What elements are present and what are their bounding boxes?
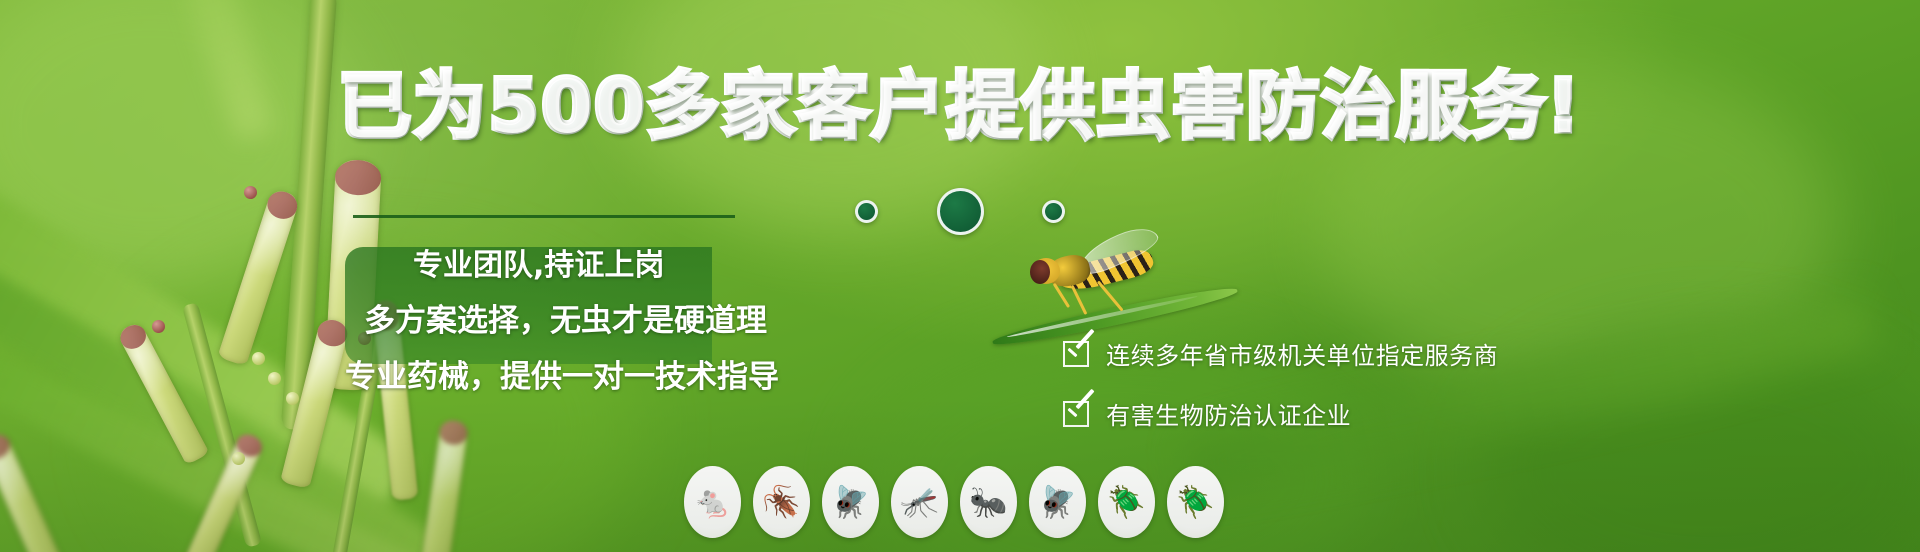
banner-headline-text: 已为500多家客户提供虫害防治服务! (338, 70, 1582, 143)
pest-control-banner: 已为500多家客户提供虫害防治服务! 专业团队,持证上岗 多方案选择，无虫才是硬… (0, 0, 1920, 552)
dot-small-right (1042, 200, 1065, 223)
flea-icon: 🪲 (1098, 487, 1155, 518)
pest-icon-rat[interactable]: 🐁 (684, 466, 741, 538)
pest-icon-bedbug[interactable]: 🪲 (1167, 466, 1224, 538)
pest-icon-mosquito[interactable]: 🦟 (891, 466, 948, 538)
credential-bullet-2-label: 有害生物防治认证企业 (1106, 396, 1351, 431)
hoverfly-icon (1010, 230, 1240, 350)
flower-spike (0, 431, 65, 552)
pest-icon-ant[interactable]: 🐜 (960, 466, 1017, 538)
pest-icon-fly[interactable]: 🪰 (822, 466, 879, 538)
credential-bullet-2: 有害生物防治认证企业 (1063, 396, 1351, 431)
flower-bud (232, 452, 245, 465)
dot-large-center (937, 188, 984, 235)
fly-icon: 🪰 (1029, 487, 1086, 518)
flower-bud (286, 392, 299, 405)
checkmark-box-icon (1063, 401, 1089, 427)
pest-icon-cockroach[interactable]: 🪳 (753, 466, 810, 538)
hoverfly-eye (1030, 260, 1050, 284)
hoverfly-leg (1071, 285, 1088, 315)
pest-icon-flea[interactable]: 🪲 (1098, 466, 1155, 538)
mosquito-icon: 🦟 (891, 487, 948, 518)
checkmark-box-icon (1063, 341, 1089, 367)
rat-icon: 🐁 (684, 487, 741, 518)
pest-icon-row: 🐁 🪳 🪰 🦟 🐜 🪰 🪲 🪲 (684, 466, 1224, 538)
pest-icon-fly-2[interactable]: 🪰 (1029, 466, 1086, 538)
ant-icon: 🐜 (960, 487, 1017, 518)
flower-spike (419, 419, 469, 552)
credential-bullet-1-label: 连续多年省市级机关单位指定服务商 (1106, 336, 1498, 371)
hoverfly-leg (1097, 281, 1124, 312)
fly-icon: 🪰 (822, 487, 879, 518)
banner-headline: 已为500多家客户提供虫害防治服务! (0, 70, 1920, 143)
decorative-dots-row (0, 188, 1920, 236)
flower-bud (252, 352, 265, 365)
flower-bud (268, 372, 281, 385)
credential-bullet-1: 连续多年省市级机关单位指定服务商 (1063, 336, 1498, 371)
flower-bud-red (152, 320, 165, 333)
dot-small-left (855, 200, 878, 223)
bedbug-icon: 🪲 (1167, 487, 1224, 518)
cockroach-icon: 🪳 (753, 487, 810, 518)
divider-rule (353, 215, 735, 218)
